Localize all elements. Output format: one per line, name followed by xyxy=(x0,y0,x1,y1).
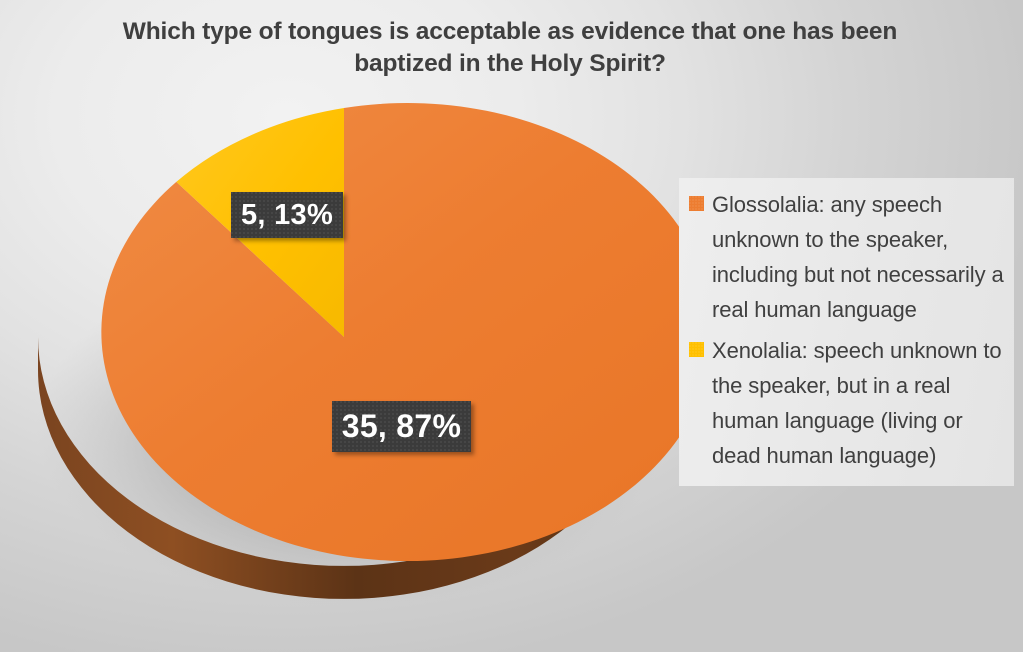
data-label-glossolalia: 35, 87% xyxy=(332,401,471,452)
data-label-xenolalia: 5, 13% xyxy=(231,192,343,238)
pie-plot-area: 5, 13% 35, 87% xyxy=(0,0,680,652)
legend-label-xenolalia: Xenolalia: speech unknown to the speaker… xyxy=(712,334,1006,474)
chart-legend: Glossolalia: any speech unknown to the s… xyxy=(679,178,1014,486)
legend-item-xenolalia[interactable]: Xenolalia: speech unknown to the speaker… xyxy=(689,334,1006,474)
legend-swatch-xenolalia-icon xyxy=(689,342,704,357)
legend-item-glossolalia[interactable]: Glossolalia: any speech unknown to the s… xyxy=(689,188,1006,328)
pie-chart-canvas: Which type of tongues is acceptable as e… xyxy=(0,0,1023,652)
legend-label-glossolalia: Glossolalia: any speech unknown to the s… xyxy=(712,188,1006,328)
pie-graphic xyxy=(0,0,680,652)
legend-swatch-glossolalia-icon xyxy=(689,196,704,211)
